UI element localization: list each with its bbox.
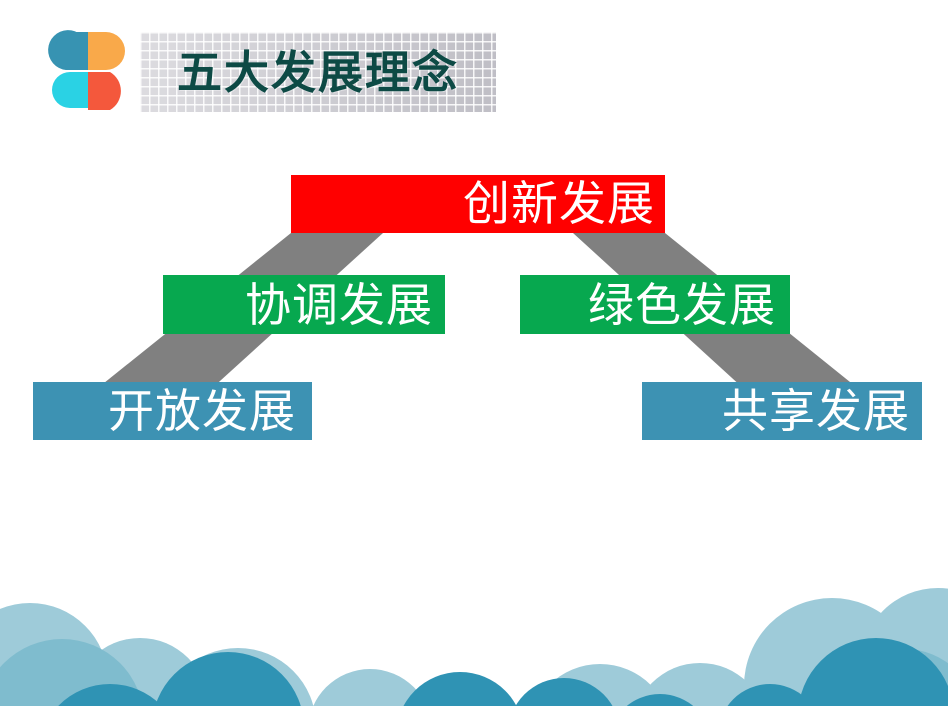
node-innovation-label: 创新发展 [463,181,655,228]
node-open-label: 开放发展 [108,388,296,434]
node-shared[interactable]: 共享发展 [642,382,922,440]
node-coordinated[interactable]: 协调发展 [163,275,445,334]
bubble-hills-footer [0,546,948,706]
node-innovation[interactable]: 创新发展 [291,175,665,233]
slide-canvas: 五大发展理念 创新发展 协调发展 绿色发展 开放发展 共享发展 [0,0,948,706]
node-open[interactable]: 开放发展 [33,382,312,440]
node-coordinated-label: 协调发展 [245,282,433,328]
node-green-label: 绿色发展 [588,282,776,328]
connector-ribbons [0,0,948,560]
five-development-concepts-diagram: 创新发展 协调发展 绿色发展 开放发展 共享发展 [0,0,948,560]
node-shared-label: 共享发展 [722,388,910,434]
node-green[interactable]: 绿色发展 [520,275,790,334]
